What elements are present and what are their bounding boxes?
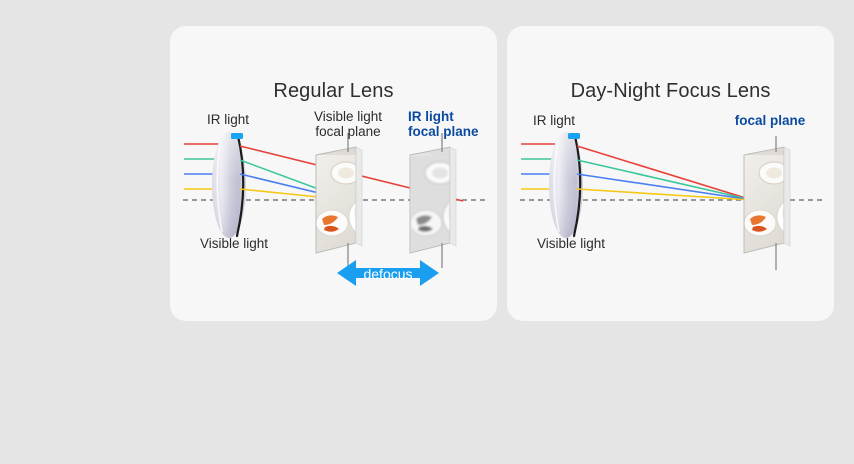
label-visible-light-focal-plane: Visible light focal plane <box>314 109 382 139</box>
panel-title-day-night-focus-lens: Day-Night Focus Lens <box>507 80 834 103</box>
label-focal-plane-right: focal plane <box>735 113 806 128</box>
label-defocus: defocus <box>363 266 412 282</box>
label-ir-light-left: IR light <box>207 112 249 127</box>
label-ir-focal-plane-line2: focal plane <box>408 124 479 139</box>
label-visible-focal-plane-line1: Visible light <box>314 109 382 124</box>
label-ir-light-focal-plane: IR light focal plane <box>408 109 479 139</box>
label-visible-focal-plane-line2: focal plane <box>315 124 380 139</box>
panel-day-night-focus-lens: Day-Night Focus Lens <box>507 26 834 321</box>
label-visible-light-right: Visible light <box>537 236 605 251</box>
panel-regular-lens: Regular Lens <box>170 26 497 321</box>
panel-title-regular-lens: Regular Lens <box>170 80 497 103</box>
label-ir-focal-plane-line1: IR light <box>408 109 454 124</box>
diagram-stage: Regular Lens Day-Night Focus Lens <box>0 0 854 464</box>
label-ir-light-right: IR light <box>533 113 575 128</box>
label-visible-light-left: Visible light <box>200 236 268 251</box>
